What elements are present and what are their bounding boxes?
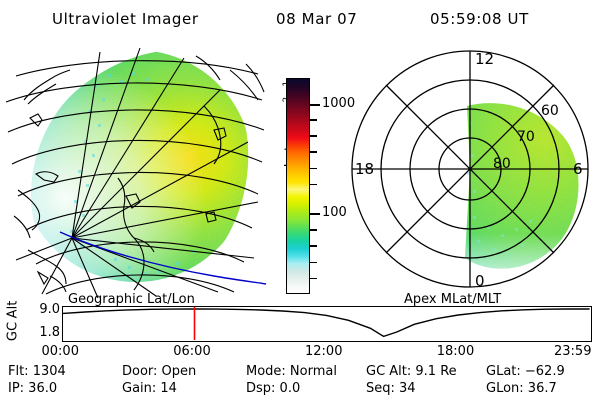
colorbar-gradient-box [286,78,310,294]
time-tick-1800: 18:00 [437,344,474,359]
apex-panel-caption: Apex MLat/MLT [404,292,501,307]
status-readout: Flt: 1304 Door: Open Mode: Normal GC Alt… [0,364,600,400]
colorbar-tick-2 [310,135,317,137]
apex-polar-svg: 12 6 0 18 60 70 80 [345,44,595,294]
orbit-altitude-chart [63,307,590,340]
strip-ytick-high: 9.0 [39,302,60,317]
status-row-2: IP: 36.0 Gain: 14 Dsp: 0.0 Seq: 34 GLon:… [0,381,600,398]
geographic-panel-caption: Geographic Lat/Lon [68,292,195,307]
status-gain: Gain: 14 [122,381,177,396]
status-flight: Flt: 1304 [8,364,66,379]
status-gc-alt: GC Alt: 9.1 Re [366,364,457,379]
strip-y-axis-title: Alt GC [2,300,24,346]
colorbar-tick-1 [310,119,317,121]
gc-altitude-curve [63,309,590,336]
colorbar-tick-3 [310,151,317,153]
colorbar-tick-4 [310,168,317,170]
mlt-label-6: 6 [573,160,583,178]
colorbar-tick-9 [310,262,317,264]
time-tick-0000: 00:00 [42,344,79,359]
status-glat: GLat: −62.9 [486,364,565,379]
status-mode: Mode: Normal [246,364,337,379]
mlat-label-80: 80 [493,156,511,172]
polar-grid [352,51,588,287]
status-dsp: Dsp: 0.0 [246,381,300,396]
status-ip: IP: 36.0 [8,381,57,396]
header-bar: Ultraviolet Imager 08 Mar 07 05:59:08 UT [0,6,600,32]
page-title: Ultraviolet Imager [52,10,199,28]
apex-polar-panel[interactable]: 12 6 0 18 60 70 80 [345,44,595,294]
observation-date: 08 Mar 07 [276,10,357,28]
mlat-label-60: 60 [541,103,559,119]
colorbar-tick-6 [310,213,320,215]
observation-time: 05:59:08 UT [430,10,529,28]
colorbar: photon cm-2s-1 1000100 [268,62,344,292]
status-row-1: Flt: 1304 Door: Open Mode: Normal GC Alt… [0,364,600,381]
geographic-image-panel[interactable] [8,44,266,292]
strip-ytick-low: 1.8 [39,325,60,340]
colorbar-tick-10 [310,278,317,280]
strip-y-tick-labels: 9.0 1.8 [26,300,60,346]
mlat-label-70: 70 [517,129,535,145]
status-glon: GLon: 36.7 [486,381,557,396]
time-tick-1200: 12:00 [305,344,342,359]
mlt-label-18: 18 [355,160,374,178]
orbit-altitude-strip-plot[interactable] [62,306,592,342]
time-tick-2359: 23:59 [554,344,591,359]
colorbar-tick-label-100: 100 [322,205,347,220]
time-tick-0600: 06:00 [173,344,210,359]
colorbar-tick-7 [310,229,317,231]
status-seq: Seq: 34 [366,381,416,396]
mlt-label-0: 0 [475,272,485,290]
colorbar-tick-marks [310,78,318,294]
colorbar-tick-5 [310,184,317,186]
geographic-projection-svg [8,44,266,292]
colorbar-tick-8 [310,245,317,247]
colorbar-tick-0 [310,104,320,106]
colorbar-gradient-fill [287,79,309,293]
mlt-label-12: 12 [475,50,494,68]
time-axis-labels: 00:0006:0012:0018:0023:59 [0,344,600,362]
status-door: Door: Open [122,364,196,379]
